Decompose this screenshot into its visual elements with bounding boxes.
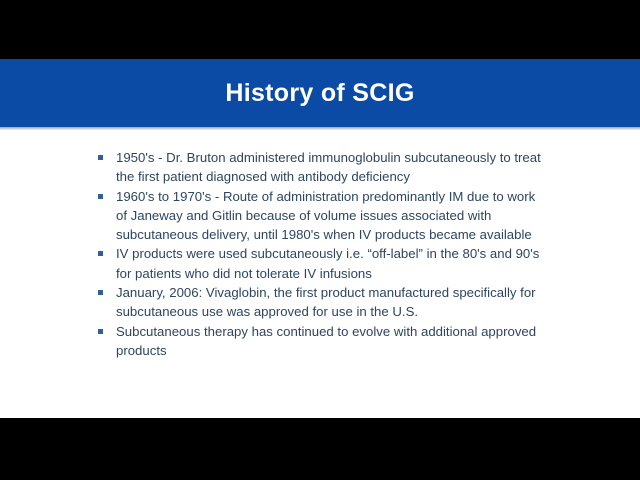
square-bullet-icon (98, 251, 103, 256)
slide-title: History of SCIG (225, 81, 414, 106)
video-player-screen: History of SCIG 1950's - Dr. Bruton admi… (0, 0, 640, 480)
list-item: IV products were used subcutaneously i.e… (98, 244, 548, 283)
square-bullet-icon (98, 194, 103, 199)
list-item: 1960's to 1970's - Route of administrati… (98, 187, 548, 245)
list-item: Subcutaneous therapy has continued to ev… (98, 322, 548, 361)
list-item-text: 1950's - Dr. Bruton administered immunog… (116, 150, 541, 184)
list-item-text: Subcutaneous therapy has continued to ev… (116, 324, 536, 358)
square-bullet-icon (98, 329, 103, 334)
square-bullet-icon (98, 155, 103, 160)
title-divider (0, 127, 640, 130)
presentation-slide: History of SCIG 1950's - Dr. Bruton admi… (0, 59, 640, 418)
square-bullet-icon (98, 290, 103, 295)
slide-body: 1950's - Dr. Bruton administered immunog… (0, 134, 640, 418)
slide-title-bar: History of SCIG (0, 59, 640, 127)
list-item: 1950's - Dr. Bruton administered immunog… (98, 148, 548, 187)
letterbox-bottom-bar (0, 418, 640, 480)
list-item: January, 2006: Vivaglobin, the first pro… (98, 283, 548, 322)
list-item-text: 1960's to 1970's - Route of administrati… (116, 189, 535, 243)
letterbox-top-bar (0, 0, 640, 59)
bullet-list: 1950's - Dr. Bruton administered immunog… (98, 148, 548, 360)
list-item-text: January, 2006: Vivaglobin, the first pro… (116, 285, 536, 319)
list-item-text: IV products were used subcutaneously i.e… (116, 246, 539, 280)
